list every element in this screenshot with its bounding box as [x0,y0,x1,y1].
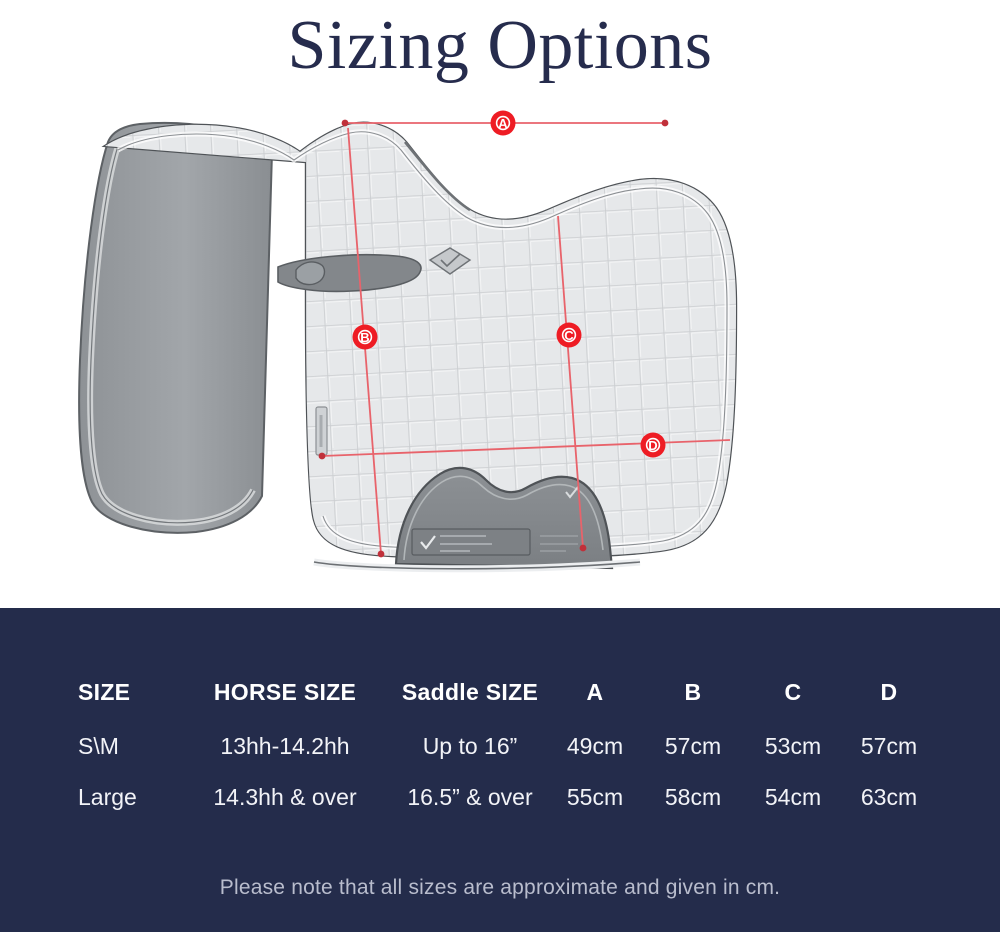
column-header-size: SIZE [78,670,130,714]
marker-c: C [557,323,582,348]
marker-b: B [353,325,378,350]
cell-a: 49cm [555,724,635,768]
sizing-table-panel: SIZE HORSE SIZE Saddle SIZE A B C D S\M … [0,608,1000,932]
table-row: S\M 13hh-14.2hh Up to 16” 49cm 57cm 53cm… [0,724,1000,768]
column-header-d: D [849,670,929,714]
cell-a: 55cm [555,775,635,819]
saddle-pad-illustration: A B C D [0,92,1000,608]
cell-c: 54cm [753,775,833,819]
saddle-pad-diagram: A B C D [0,92,1000,608]
cell-horse-size: 13hh-14.2hh [200,724,370,768]
cell-b: 58cm [653,775,733,819]
marker-d-label: D [648,438,657,453]
marker-b-label: B [360,330,369,345]
column-header-a: A [555,670,635,714]
table-row: Large 14.3hh & over 16.5” & over 55cm 58… [0,775,1000,819]
cell-saddle-size: Up to 16” [385,724,555,768]
marker-a: A [491,111,516,136]
page-header: Sizing Options [0,0,1000,92]
cell-b: 57cm [653,724,733,768]
cell-size: S\M [78,724,119,768]
column-header-c: C [753,670,833,714]
cell-d: 63cm [849,775,929,819]
cell-c: 53cm [753,724,833,768]
column-header-b: B [653,670,733,714]
table-header-row: SIZE HORSE SIZE Saddle SIZE A B C D [0,670,1000,714]
pad-front-flap [79,123,272,533]
cell-horse-size: 14.3hh & over [200,775,370,819]
sizing-options-page: Sizing Options [0,0,1000,932]
column-header-horse-size: HORSE SIZE [200,670,370,714]
cell-size: Large [78,775,137,819]
side-tab-label [316,407,327,455]
marker-a-label: A [498,116,508,131]
marker-d: D [641,433,666,458]
cell-d: 57cm [849,724,929,768]
page-title: Sizing Options [287,11,712,81]
column-header-saddle-size: Saddle SIZE [385,670,555,714]
sizing-footnote: Please note that all sizes are approxima… [0,876,1000,900]
marker-c-label: C [564,328,574,343]
cell-saddle-size: 16.5” & over [385,775,555,819]
